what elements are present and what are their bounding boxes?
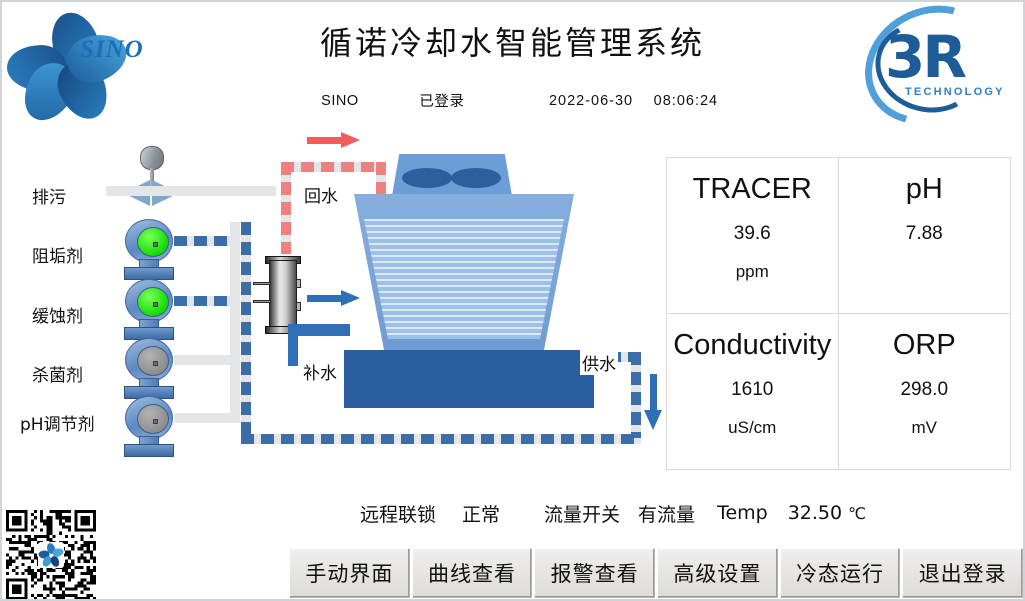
- remote-interlock-value: 正常: [462, 500, 500, 527]
- label-biocide: 杀菌剂: [32, 361, 83, 386]
- cold-run-button[interactable]: 冷态运行: [780, 548, 901, 598]
- pump-body-icon: [125, 279, 173, 323]
- temperature-unit: ℃: [848, 504, 866, 523]
- login-status: 已登录: [419, 90, 464, 111]
- qr-logo-petal: [52, 547, 65, 558]
- pump-corrosion-inhibitor[interactable]: [122, 279, 176, 341]
- arrow-head: [341, 132, 360, 148]
- pump-base-icon: [124, 444, 174, 457]
- meter-value: 298.0: [900, 379, 948, 401]
- logout-button[interactable]: 退出登录: [902, 548, 1023, 598]
- flow-loop-right: [631, 352, 641, 438]
- pump-biocide[interactable]: [122, 338, 176, 400]
- arrow-head: [644, 410, 662, 430]
- pump-status-indicator: [137, 346, 169, 376]
- pump-hub-icon: [153, 242, 158, 247]
- pump-body-icon: [125, 338, 173, 382]
- supply-flow-arrow: [644, 374, 662, 432]
- process-flow-diagram: 排污 阻垢剂 缓蚀剂 杀菌剂 pH调节剂: [2, 124, 662, 484]
- arrow-shaft: [307, 137, 343, 144]
- tower-fan-icon: [402, 168, 502, 188]
- flow-return-left: [281, 162, 291, 254]
- meter-unit: mV: [912, 418, 938, 438]
- logo-technology-text: TECHNOLOGY: [905, 86, 1005, 98]
- temperature-label: Temp: [717, 502, 768, 524]
- pump-status-indicator: [137, 287, 169, 317]
- system-date: 2022-06-30: [549, 93, 633, 109]
- label-return-water: 回水: [302, 182, 340, 207]
- label-supply-water: 供水: [580, 350, 618, 375]
- meter-name: TRACER: [693, 172, 812, 206]
- vessel-flange-icon: [296, 302, 301, 311]
- status-row: 远程联锁 正常 流量开关 有流量 Temp 32.50 ℃: [2, 494, 1023, 532]
- fan-blade-right-icon: [451, 168, 501, 188]
- label-scale-inhibitor: 阻垢剂: [32, 242, 83, 267]
- meter-value: 39.6: [734, 223, 771, 245]
- hmi-screen: SINO 循诺冷却水智能管理系统 SINO 已登录 2022-06-30 08:…: [0, 0, 1025, 601]
- measurement-panel: TRACER 39.6 ppm pH 7.88 Conductivity 161…: [666, 157, 1011, 470]
- meter-name: pH: [906, 172, 943, 206]
- meter-ph: pH 7.88: [839, 158, 1011, 314]
- meter-unit: uS/cm: [728, 418, 776, 438]
- bottom-button-bar: 手动界面 曲线查看 报警查看 高级设置 冷态运行 退出登录: [289, 548, 1023, 598]
- flow-switch-value: 有流量: [638, 500, 695, 527]
- meter-name: ORP: [893, 328, 956, 362]
- qr-code: [6, 510, 96, 600]
- valve-actuator-icon: [140, 146, 164, 170]
- qr-logo-badge: [38, 542, 64, 568]
- meter-orp: ORP 298.0 mV: [839, 314, 1011, 470]
- remote-interlock-label: 远程联锁: [360, 500, 436, 527]
- advanced-settings-button[interactable]: 高级设置: [657, 548, 778, 598]
- vessel-nozzle-icon: [253, 282, 271, 285]
- alarm-view-button[interactable]: 报警查看: [534, 548, 655, 598]
- cooling-tower[interactable]: [332, 154, 622, 444]
- logo-3r-text: 3R: [885, 28, 964, 86]
- label-blowdown: 排污: [32, 183, 66, 208]
- pipe-makeup-horizontal: [288, 324, 350, 336]
- label-ph-adjuster: pH调节剂: [20, 410, 95, 435]
- return-flow-arrow: [307, 132, 361, 148]
- pump-ph-adjuster[interactable]: [122, 396, 176, 458]
- pipe-blowdown: [106, 186, 276, 196]
- meter-value: 7.88: [906, 223, 943, 245]
- temperature-value: 32.50: [788, 502, 842, 524]
- meter-tracer: TRACER 39.6 ppm: [667, 158, 839, 314]
- vessel-shell-icon: [269, 260, 297, 332]
- pump-hub-icon: [153, 361, 158, 366]
- flow-loop-left: [241, 222, 251, 444]
- pump-status-indicator: [137, 227, 169, 257]
- manual-interface-button[interactable]: 手动界面: [289, 548, 410, 598]
- tower-basin: [344, 350, 594, 408]
- fan-blade-left-icon: [402, 168, 452, 188]
- vessel-flange-icon: [296, 279, 301, 288]
- meter-name: Conductivity: [673, 328, 831, 362]
- vessel-nozzle-icon: [253, 300, 271, 303]
- label-makeup-water: 补水: [301, 359, 339, 384]
- header-bar: SINO 循诺冷却水智能管理系统 SINO 已登录 2022-06-30 08:…: [2, 2, 1023, 122]
- arrow-shaft: [650, 374, 657, 412]
- pipe-manifold-riser: [230, 222, 240, 422]
- meter-unit: ppm: [736, 262, 769, 282]
- meter-value: 1610: [731, 379, 773, 401]
- logged-user: SINO: [307, 93, 373, 109]
- meter-conductivity: Conductivity 1610 uS/cm: [667, 314, 839, 470]
- curve-view-button[interactable]: 曲线查看: [412, 548, 533, 598]
- pump-hub-icon: [153, 302, 158, 307]
- 3r-technology-logo: 3R TECHNOLOGY: [861, 6, 1011, 114]
- tower-fill-fins: [364, 219, 564, 339]
- blowdown-valve[interactable]: [120, 146, 182, 206]
- flow-switch-label: 流量开关: [544, 500, 620, 527]
- system-time: 08:06:24: [654, 93, 718, 109]
- label-corrosion-inhibitor: 缓蚀剂: [32, 302, 83, 327]
